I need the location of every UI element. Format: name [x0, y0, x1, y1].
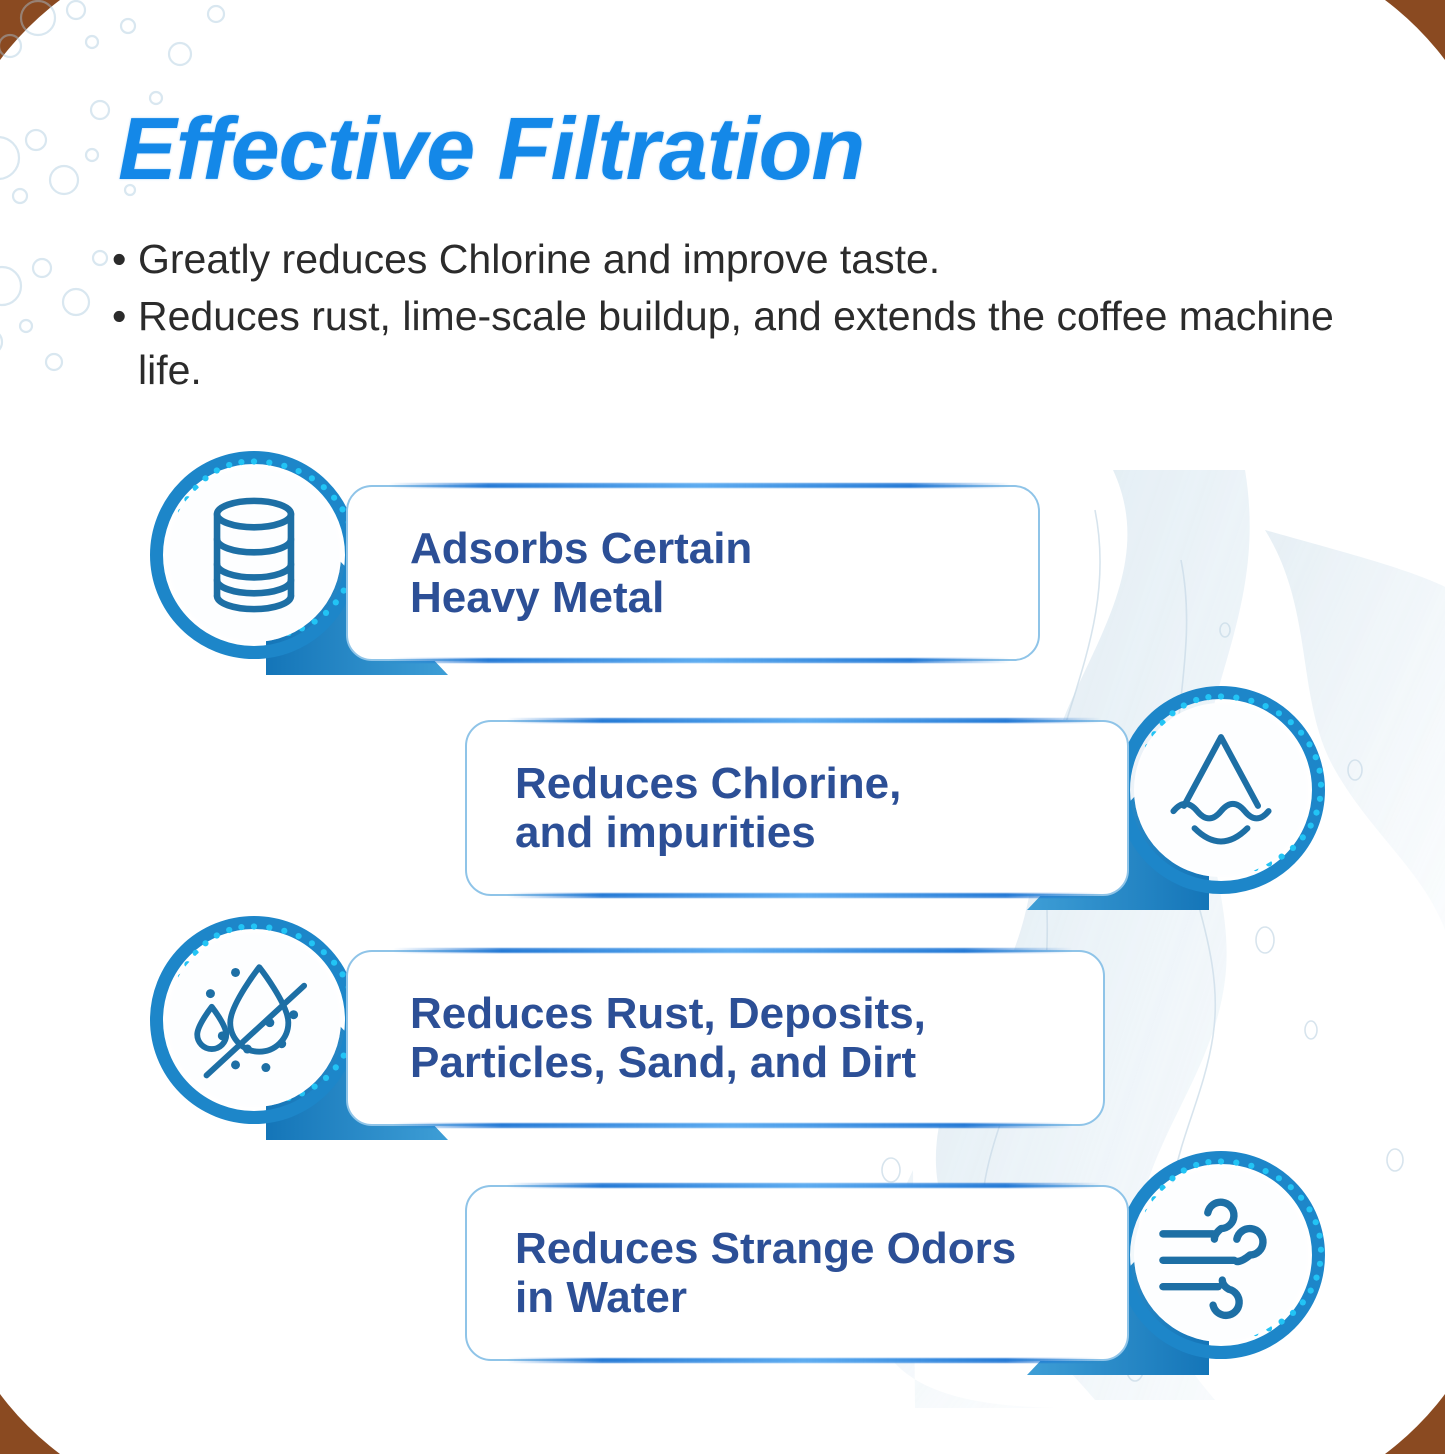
feature-label-box: Adsorbs Certain Heavy Metal [346, 485, 1040, 661]
bullet-text: Greatly reduces Chlorine and improve tas… [138, 232, 1352, 287]
feature-row-reduces-odors: Reduces Strange Odors in Water [440, 1143, 1325, 1375]
feature-label-text: Reduces Rust, Deposits, Particles, Sand,… [348, 989, 926, 1088]
water-droplet-waves-icon [1155, 724, 1287, 856]
list-item: • Greatly reduces Chlorine and improve t… [112, 232, 1352, 287]
bullet-text: Reduces rust, lime-scale buildup, and ex… [138, 289, 1352, 398]
benefit-bullet-list: • Greatly reduces Chlorine and improve t… [112, 232, 1352, 400]
no-sediment-droplet-icon [188, 954, 320, 1086]
feature-row-reduces-rust-deposits: Reduces Rust, Deposits, Particles, Sand,… [150, 908, 1105, 1140]
feature-icon-badge [1117, 686, 1325, 894]
feature-icon-badge [1117, 1151, 1325, 1359]
page-title: Effective Filtration [118, 98, 864, 200]
feature-icon-badge [150, 916, 358, 1124]
feature-label-box: Reduces Rust, Deposits, Particles, Sand,… [346, 950, 1105, 1126]
feature-label-box: Reduces Chlorine, and impurities [465, 720, 1129, 896]
bullet-marker-icon: • [112, 289, 138, 344]
feature-row-adsorbs-heavy-metal: Adsorbs Certain Heavy Metal [150, 443, 1040, 675]
airflow-odor-icon [1155, 1189, 1287, 1321]
feature-label-box: Reduces Strange Odors in Water [465, 1185, 1129, 1361]
feature-row-reduces-chlorine: Reduces Chlorine, and impurities [440, 678, 1325, 910]
feature-label-text: Adsorbs Certain Heavy Metal [348, 524, 752, 623]
infographic-poster: Effective Filtration • Greatly reduces C… [0, 0, 1445, 1454]
filter-cartridge-icon [188, 489, 320, 621]
feature-label-text: Reduces Strange Odors in Water [467, 1224, 1016, 1323]
feature-icon-badge [150, 451, 358, 659]
list-item: • Reduces rust, lime-scale buildup, and … [112, 289, 1352, 398]
bullet-marker-icon: • [112, 232, 138, 287]
feature-label-text: Reduces Chlorine, and impurities [467, 759, 901, 858]
